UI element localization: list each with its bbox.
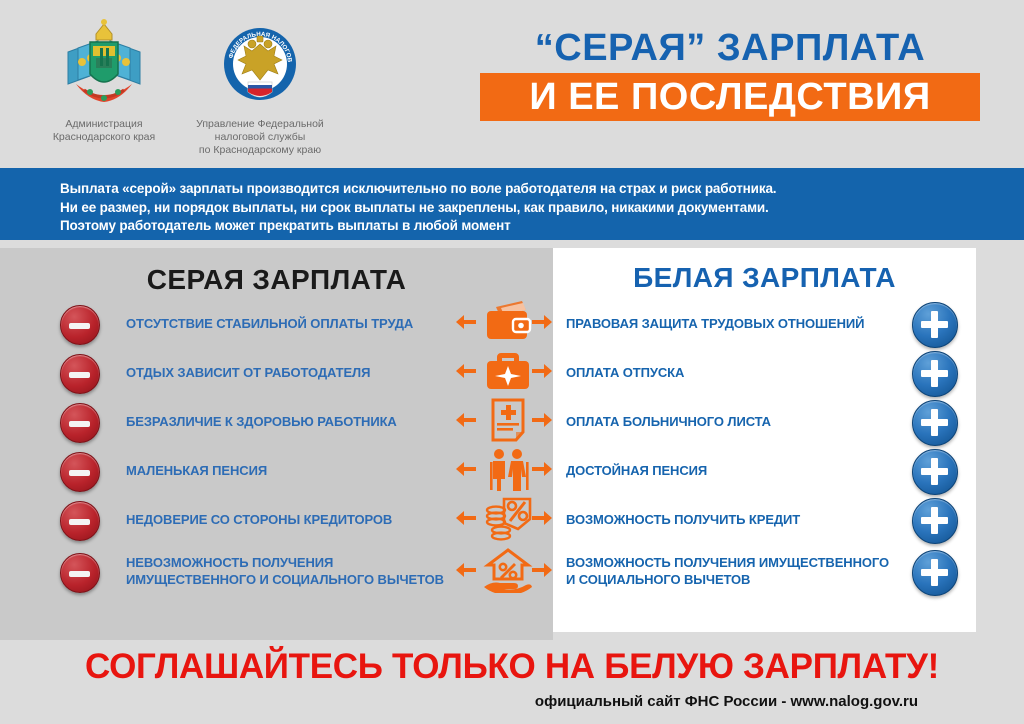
footer-slogan: СОГЛАШАЙТЕСЬ ТОЛЬКО НА БЕЛУЮ ЗАРПЛАТУ! <box>0 646 1024 688</box>
white-salary-item-label: ВОЗМОЖНОСТЬ ПОЛУЧЕНИЯ ИМУЩЕСТВЕННОГО И С… <box>566 555 896 588</box>
logo-krasnodar-administration: Администрация Краснодарского края <box>42 18 166 144</box>
minus-badge <box>60 305 100 345</box>
infographic-page: Администрация Краснодарского края <box>0 0 1024 724</box>
footer: СОГЛАШАЙТЕСЬ ТОЛЬКО НА БЕЛУЮ ЗАРПЛАТУ! о… <box>0 640 1024 724</box>
page-title: “СЕРАЯ” ЗАРПЛАТА И ЕЕ ПОСЛЕДСТВИЯ <box>480 26 980 121</box>
krasnodar-coat-of-arms-icon <box>60 18 148 114</box>
footer-site: официальный сайт ФНС России - www.nalog.… <box>0 693 1024 710</box>
logo-caption-krasnodar: Администрация Краснодарского края <box>42 118 166 144</box>
header: Администрация Краснодарского края <box>0 0 1024 164</box>
gray-salary-title: СЕРАЯ ЗАРПЛАТА <box>0 264 553 296</box>
white-salary-item-label: ДОСТОЙНАЯ ПЕНСИЯ <box>566 463 896 480</box>
white-salary-item-label: ПРАВОВАЯ ЗАЩИТА ТРУДОВЫХ ОТНОШЕНИЙ <box>566 316 896 333</box>
plus-badge <box>912 351 958 397</box>
white-salary-item-label: ОПЛАТА ОТПУСКА <box>566 365 896 382</box>
logo-federal-tax-service: ФЕДЕРАЛЬНАЯ НАЛОГОВАЯ СЛУЖБА Управление … <box>190 18 330 157</box>
minus-badge <box>60 403 100 443</box>
gray-salary-item-label: МАЛЕНЬКАЯ ПЕНСИЯ <box>126 463 451 480</box>
minus-badge <box>60 501 100 541</box>
white-salary-item-label: ВОЗМОЖНОСТЬ ПОЛУЧИТЬ КРЕДИТ <box>566 512 896 529</box>
intro-banner-text: Выплата «серой» зарплаты производится ис… <box>0 168 1024 236</box>
gray-salary-item-label: НЕДОВЕРИЕ СО СТОРОНЫ КРЕДИТОРОВ <box>126 512 451 529</box>
title-line-2: И ЕЕ ПОСЛЕДСТВИЯ <box>480 73 980 121</box>
plus-badge <box>912 400 958 446</box>
gray-salary-item-label: БЕЗРАЗЛИЧИЕ К ЗДОРОВЬЮ РАБОТНИКА <box>126 414 451 431</box>
minus-badge <box>60 452 100 492</box>
gray-salary-item-label: ОТДЫХ ЗАВИСИТ ОТ РАБОТОДАТЕЛЯ <box>126 365 451 382</box>
plus-badge <box>912 498 958 544</box>
federal-tax-service-emblem-icon: ФЕДЕРАЛЬНАЯ НАЛОГОВАЯ СЛУЖБА <box>212 18 308 114</box>
plus-badge <box>912 449 958 495</box>
logo-group: Администрация Краснодарского края <box>42 18 330 157</box>
plus-badge <box>912 550 958 596</box>
intro-banner: Выплата «серой» зарплаты производится ис… <box>0 168 1024 240</box>
gray-salary-item-label: ОТСУТСТВИЕ СТАБИЛЬНОЙ ОПЛАТЫ ТРУДА <box>126 316 451 333</box>
gray-salary-item-label: НЕВОЗМОЖНОСТЬ ПОЛУЧЕНИЯ ИМУЩЕСТВЕННОГО И… <box>126 555 451 588</box>
minus-badge <box>60 354 100 394</box>
logo-caption-fns: Управление Федеральной налоговой службы … <box>190 118 330 157</box>
white-salary-title: БЕЛАЯ ЗАРПЛАТА <box>553 262 976 294</box>
plus-badge <box>912 302 958 348</box>
minus-badge <box>60 553 100 593</box>
white-salary-item-label: ОПЛАТА БОЛЬНИЧНОГО ЛИСТА <box>566 414 896 431</box>
title-line-1: “СЕРАЯ” ЗАРПЛАТА <box>480 26 980 70</box>
